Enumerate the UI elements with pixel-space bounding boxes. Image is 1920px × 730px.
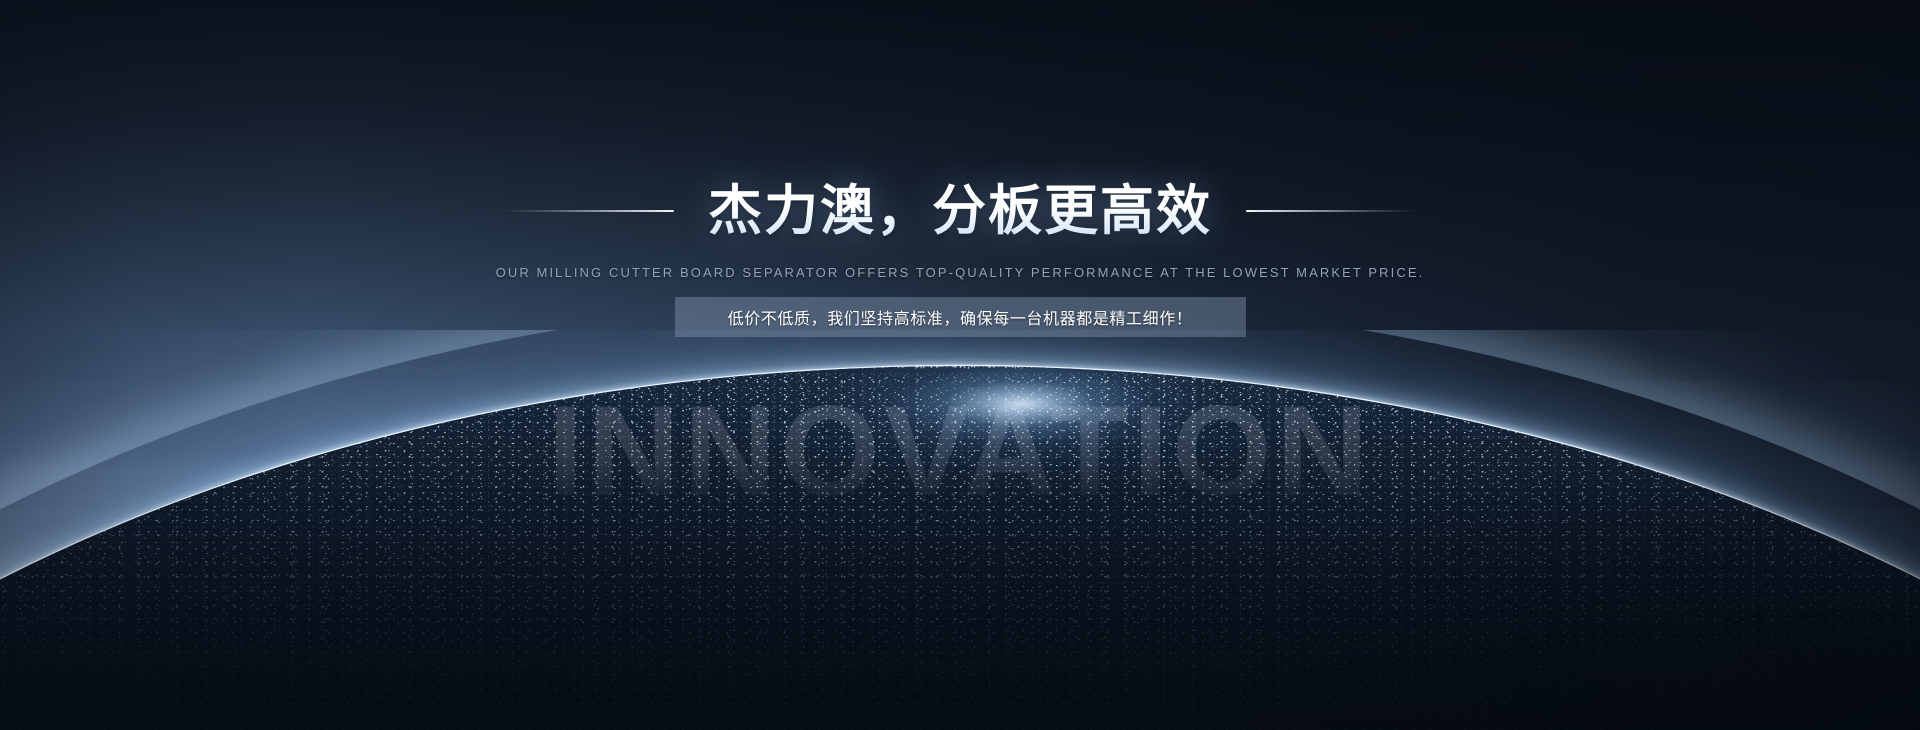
- subtitle-text: OUR MILLING CUTTER BOARD SEPARATOR OFFER…: [0, 265, 1920, 280]
- divider-line-left: [504, 210, 674, 212]
- tagline-banner: 低价不低质，我们坚持高标准，确保每一台机器都是精工细作！: [675, 297, 1246, 337]
- headline-row: 杰力澳，分板更高效: [0, 146, 1920, 277]
- hero-banner: INNOVATION 杰力澳，分板更高效 OUR MILLING CUTTER …: [0, 0, 1920, 730]
- tagline-container: 低价不低质，我们坚持高标准，确保每一台机器都是精工细作！: [0, 297, 1920, 337]
- divider-line-right: [1246, 210, 1416, 212]
- watermark-text: INNOVATION: [0, 388, 1920, 516]
- page-title: 杰力澳，分板更高效: [708, 182, 1212, 240]
